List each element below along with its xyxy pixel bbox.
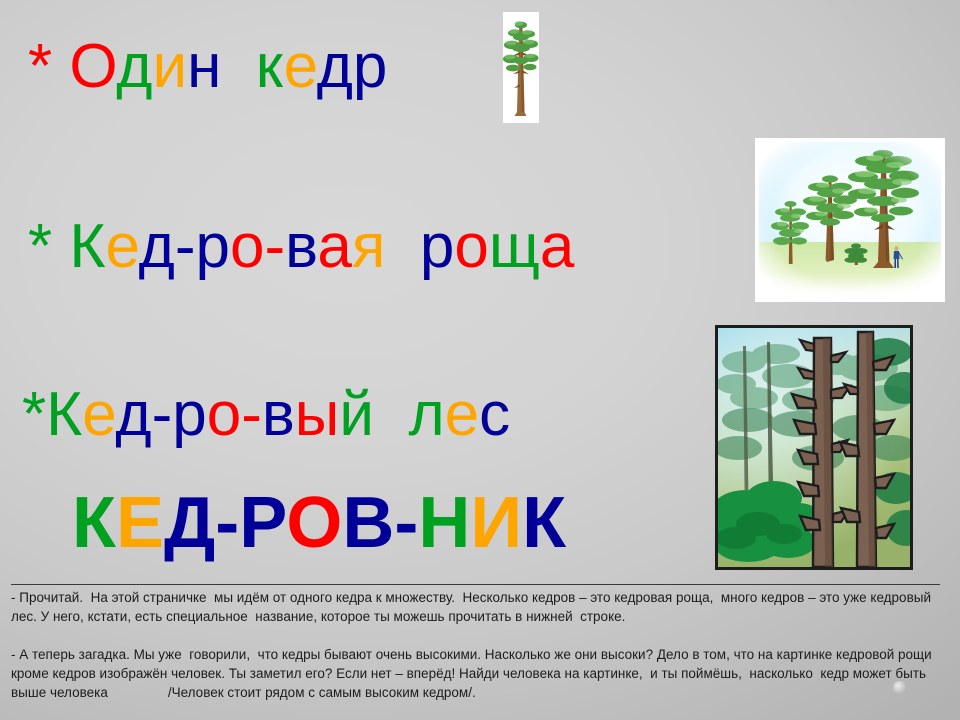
image-one-cedar-tree xyxy=(503,12,539,123)
glyph: л xyxy=(408,380,444,449)
glyph: И xyxy=(470,483,522,563)
glyph: в xyxy=(262,380,295,449)
glyph: д xyxy=(139,212,175,281)
glyph: - xyxy=(264,212,285,281)
glyph: К xyxy=(522,483,566,563)
glyph: - xyxy=(241,380,262,449)
glyph xyxy=(221,32,255,101)
glyph: К xyxy=(72,483,116,563)
glyph: а xyxy=(317,212,351,281)
glyph: е xyxy=(284,32,317,101)
glyph: - xyxy=(152,380,173,449)
glyph: - xyxy=(215,483,239,563)
glyph: Р xyxy=(239,483,286,563)
glyph: щ xyxy=(489,212,540,281)
text-line-kedrovnik: КЕД-РОВ-НИК xyxy=(72,487,566,559)
glyph: о xyxy=(207,380,241,449)
glyph: О xyxy=(69,32,116,101)
horizontal-separator xyxy=(11,584,940,585)
glyph: я xyxy=(352,212,386,281)
glyph: - xyxy=(394,483,418,563)
glyph: а xyxy=(540,212,574,281)
glyph: ы xyxy=(295,380,340,449)
glyph xyxy=(374,380,408,449)
glyph: р xyxy=(195,212,229,281)
glyph: д xyxy=(317,32,353,101)
glyph: Н xyxy=(418,483,470,563)
glyph: * xyxy=(22,380,46,449)
glyph: й xyxy=(339,380,374,449)
glyph: д xyxy=(115,380,151,449)
glyph: - xyxy=(175,212,196,281)
glyph: * xyxy=(28,212,52,281)
image-cedar-grove xyxy=(755,138,945,302)
glyph: е xyxy=(106,212,139,281)
note-paragraph-read: - Прочитай. На этой страничке мы идём от… xyxy=(11,588,951,626)
text-line-cedar-grove: * Кед-ро-вая роща xyxy=(28,216,574,278)
glyph xyxy=(52,32,69,101)
glyph: в xyxy=(285,212,317,281)
glyph: е xyxy=(82,380,115,449)
glyph: к xyxy=(256,32,284,101)
glyph: Е xyxy=(116,483,164,563)
glyph: К xyxy=(46,380,82,449)
note-paragraph-riddle: - А теперь загадка. Мы уже говорили, что… xyxy=(11,645,951,702)
glyph: д xyxy=(116,32,152,101)
glyph xyxy=(385,212,419,281)
glyph: е xyxy=(445,380,479,449)
text-line-cedar-forest: *Кед-ро-вый лес xyxy=(22,384,510,446)
cedar-grove-illustration xyxy=(755,138,945,302)
glyph: О xyxy=(286,483,342,563)
one-cedar-icon xyxy=(503,12,539,123)
glyph: В xyxy=(342,483,394,563)
glyph: и xyxy=(152,32,187,101)
glyph: Д xyxy=(164,483,215,563)
image-cedar-forest xyxy=(715,325,913,570)
glyph: р xyxy=(420,212,454,281)
slide-canvas: * Один кедр * Кед-ро-вая роща *Кед-ро-вы… xyxy=(0,0,960,720)
cedar-forest-illustration xyxy=(718,328,910,567)
glyph: К xyxy=(69,212,105,281)
glyph: о xyxy=(230,212,264,281)
glyph xyxy=(52,212,69,281)
text-line-one-cedar: * Один кедр xyxy=(28,36,387,98)
glyph: н xyxy=(187,32,221,101)
glyph: о xyxy=(454,212,488,281)
glyph: с xyxy=(479,380,510,449)
glyph: р xyxy=(172,380,206,449)
glyph: р xyxy=(353,32,387,101)
glyph: * xyxy=(28,32,52,101)
decorative-dot xyxy=(893,681,906,694)
